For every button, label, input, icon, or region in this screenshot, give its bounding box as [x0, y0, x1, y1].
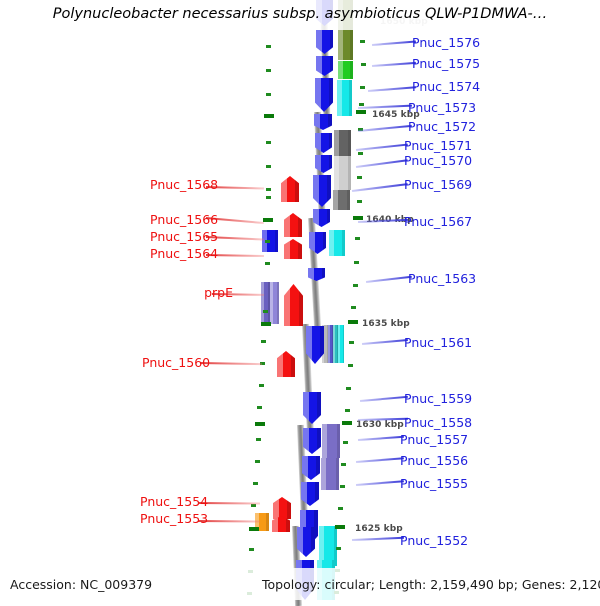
gene-label-forward[interactable]: Pnuc_1559 — [404, 391, 472, 406]
gene-arrow-forward-shadow — [330, 30, 333, 54]
gene-label-forward[interactable]: Pnuc_1572 — [408, 119, 476, 134]
gene-arrow-forward-shadow — [328, 114, 332, 130]
gene-arrow-forward[interactable] — [313, 209, 330, 227]
cog-block — [261, 282, 270, 324]
gene-label-forward[interactable]: Pnuc_1571 — [404, 138, 472, 153]
tick-major — [342, 421, 352, 425]
tick-major — [261, 322, 271, 326]
gene-arrow-reverse-highlight — [273, 497, 279, 519]
gene-label-forward[interactable]: Pnuc_1563 — [408, 271, 476, 286]
tick-major — [335, 525, 345, 529]
tick-minor — [345, 409, 350, 412]
tick-minor — [338, 507, 343, 510]
gene-arrow-reverse-shadow — [298, 213, 302, 237]
scale-caption: 1625 kbp — [355, 524, 403, 534]
gene-arrow-reverse[interactable] — [284, 284, 303, 326]
cog-block — [338, 61, 353, 79]
organism-title: Polynucleobacter necessarius subsp. asym… — [0, 6, 600, 22]
cog-block-highlight — [333, 190, 338, 210]
tick-minor — [266, 165, 271, 168]
leader-line — [352, 537, 404, 541]
cog-block — [321, 458, 339, 490]
gene-arrow-forward[interactable] — [316, 30, 333, 54]
gene-arrow-forward[interactable] — [316, 56, 333, 76]
gene-label-reverse[interactable]: Pnuc_1554 — [140, 494, 198, 509]
tick-minor — [253, 482, 258, 485]
gene-label-reverse[interactable]: Pnuc_1568 — [150, 177, 208, 192]
cog-block-shadow — [266, 513, 269, 531]
tick-major — [348, 320, 358, 324]
cog-block — [333, 190, 350, 210]
gene-arrow-forward-shadow — [316, 456, 320, 480]
tick-minor — [360, 40, 365, 43]
tick-minor — [341, 463, 346, 466]
cog-block-shadow — [337, 424, 340, 458]
tick-minor — [358, 152, 363, 155]
gene-arrow-forward[interactable] — [313, 175, 331, 207]
tick-minor — [255, 460, 260, 463]
leader-line — [372, 41, 416, 46]
cog-block-shadow — [336, 458, 339, 490]
cog-block-highlight — [270, 282, 273, 324]
leader-line — [358, 436, 404, 441]
cog-block — [338, 325, 344, 363]
tick-minor — [357, 176, 362, 179]
gene-label-reverse[interactable]: Pnuc_1565 — [150, 229, 208, 244]
gene-label-forward[interactable]: Pnuc_1575 — [412, 56, 480, 71]
genome-summary-label: Topology: circular; Length: 2,159,490 bp… — [262, 577, 600, 592]
tick-minor — [355, 237, 360, 240]
cog-block — [338, 32, 353, 60]
leader-line — [358, 125, 412, 132]
gene-arrow-forward-highlight — [315, 78, 321, 112]
gene-arrow-forward-highlight — [313, 175, 319, 207]
tick-minor — [360, 86, 365, 89]
tick-minor — [351, 306, 356, 309]
tick-minor — [265, 262, 270, 265]
gene-label-forward[interactable]: Pnuc_1570 — [404, 153, 472, 168]
genome-map-viewport[interactable]: 1650 kbp1645 kbp1640 kbp1635 kbp1630 kbp… — [0, 0, 600, 600]
gene-label-forward[interactable]: Pnuc_1558 — [404, 415, 472, 430]
gene-arrow-forward-shadow — [330, 56, 333, 76]
tick-minor — [346, 387, 351, 390]
gene-label-forward[interactable]: Pnuc_1561 — [404, 335, 472, 350]
cog-block-highlight — [338, 32, 343, 60]
cog-block-highlight — [322, 424, 327, 458]
gene-arrow-reverse-highlight — [284, 239, 290, 259]
tick-minor — [259, 384, 264, 387]
gene-label-reverse[interactable]: Pnuc_1566 — [150, 212, 208, 227]
tick-minor — [249, 548, 254, 551]
tick-minor — [266, 196, 271, 199]
cog-block-highlight — [329, 230, 334, 256]
tick-minor — [349, 341, 354, 344]
tick-major — [255, 422, 265, 426]
gene-arrow-forward[interactable] — [303, 428, 321, 454]
cog-block-highlight — [338, 61, 343, 79]
tick-minor — [263, 310, 268, 313]
gene-arrow-forward-highlight — [316, 30, 322, 54]
leader-line — [366, 276, 412, 283]
gene-label-forward[interactable]: Pnuc_1569 — [404, 177, 472, 192]
tick-major — [264, 114, 274, 118]
cog-block-shadow — [275, 230, 278, 252]
gene-arrow-forward-shadow — [315, 482, 319, 506]
gene-label-reverse[interactable]: Pnuc_1553 — [140, 511, 198, 526]
gene-label-forward[interactable]: Pnuc_1557 — [400, 432, 468, 447]
cog-block-shadow — [350, 61, 353, 79]
gene-label-forward[interactable]: Pnuc_1556 — [400, 453, 468, 468]
tick-minor — [266, 188, 271, 191]
gene-label-reverse[interactable]: prpE — [175, 285, 233, 300]
tick-minor — [256, 438, 261, 441]
tick-major — [356, 110, 366, 114]
tick-major — [263, 218, 273, 222]
gene-label-forward[interactable]: Pnuc_1555 — [400, 476, 468, 491]
gene-arrow-forward-shadow — [327, 175, 331, 207]
accession-label: Accession: NC_009379 — [10, 577, 152, 592]
gene-arrow-forward-shadow — [329, 133, 332, 153]
gene-arrow-forward[interactable] — [315, 78, 333, 112]
gene-label-forward[interactable]: Pnuc_1576 — [412, 35, 480, 50]
gene-label-reverse[interactable]: Pnuc_1564 — [150, 246, 208, 261]
tick-minor — [354, 261, 359, 264]
scale-caption: 1635 kbp — [362, 319, 410, 329]
tick-minor — [353, 284, 358, 287]
tick-minor — [359, 103, 364, 106]
cog-block-highlight — [333, 325, 335, 363]
gene-arrow-forward-shadow — [327, 209, 330, 227]
tick-minor — [265, 240, 270, 243]
gene-arrow-reverse-shadow — [287, 497, 291, 519]
cog-block — [322, 424, 340, 458]
cog-block-highlight — [261, 282, 264, 324]
cog-block-shadow — [349, 80, 352, 116]
gene-arrow-forward-shadow — [311, 527, 315, 557]
cog-block-highlight — [337, 80, 342, 116]
gene-arrow-reverse-highlight — [284, 213, 290, 237]
leader-line — [368, 86, 416, 91]
gene-arrow-reverse-highlight — [284, 284, 290, 326]
tick-minor — [266, 69, 271, 72]
cog-block — [270, 282, 279, 324]
tick-minor — [357, 200, 362, 203]
gene-label-forward[interactable]: Pnuc_1567 — [404, 214, 472, 229]
tick-minor — [343, 441, 348, 444]
tick-minor — [257, 406, 262, 409]
leader-line — [356, 144, 408, 151]
gene-arrow-forward-shadow — [317, 428, 321, 454]
gene-arrow-reverse[interactable] — [273, 497, 291, 519]
gene-arrow-reverse[interactable] — [281, 176, 299, 202]
leader-line — [356, 480, 404, 485]
gene-arrow-reverse-highlight — [281, 176, 287, 202]
tick-minor — [266, 141, 271, 144]
gene-arrow-forward-shadow — [323, 232, 326, 254]
tick-major — [249, 527, 259, 531]
cog-block — [334, 130, 351, 156]
gene-arrow-reverse-shadow — [299, 284, 303, 326]
cog-block-shadow — [350, 32, 353, 60]
gene-arrow-forward-shadow — [329, 155, 332, 173]
tick-minor — [361, 63, 366, 66]
leader-line — [372, 62, 416, 67]
scale-caption: 1630 kbp — [356, 420, 404, 430]
leader-line — [358, 105, 412, 109]
cog-block-shadow — [347, 190, 350, 210]
cog-block-highlight — [334, 130, 339, 156]
gene-arrow-reverse-highlight — [277, 351, 283, 377]
tick-major — [353, 216, 363, 220]
cog-block — [337, 80, 352, 116]
cog-block-highlight — [338, 325, 340, 363]
tick-minor — [251, 504, 256, 507]
cog-block-shadow — [343, 325, 344, 363]
tick-minor — [340, 485, 345, 488]
gene-arrow-forward-shadow — [317, 392, 321, 424]
gene-label-forward[interactable]: Pnuc_1574 — [412, 79, 480, 94]
tick-minor — [336, 547, 341, 550]
cog-block-shadow — [348, 130, 351, 156]
gene-arrow-forward-shadow — [322, 268, 325, 281]
cog-block — [329, 230, 345, 256]
tick-minor — [266, 93, 271, 96]
cog-block-highlight — [321, 458, 326, 490]
cog-block — [334, 156, 351, 190]
gene-arrow-reverse[interactable] — [277, 351, 295, 377]
gene-arrow-reverse-shadow — [298, 239, 302, 259]
gene-arrow-reverse[interactable] — [284, 239, 302, 259]
tick-minor — [348, 364, 353, 367]
cog-block-highlight — [334, 156, 339, 190]
gene-arrow-reverse-shadow — [291, 351, 295, 377]
leader-line — [360, 396, 408, 402]
leader-line — [352, 183, 408, 191]
cog-block-shadow — [342, 230, 345, 256]
cog-block-shadow — [277, 282, 279, 324]
tick-minor — [266, 45, 271, 48]
tick-minor — [261, 340, 266, 343]
gene-arrow-forward-highlight — [316, 56, 322, 76]
gene-label-reverse[interactable]: Pnuc_1560 — [142, 355, 200, 370]
leader-line — [356, 159, 408, 167]
gene-arrow-reverse[interactable] — [284, 213, 302, 237]
leader-line — [356, 457, 404, 462]
leader-line — [362, 339, 408, 345]
gene-label-forward[interactable]: Pnuc_1573 — [408, 100, 476, 115]
cog-block-highlight — [328, 325, 330, 363]
gene-arrow-reverse-shadow — [295, 176, 299, 202]
gene-label-forward[interactable]: Pnuc_1552 — [400, 533, 468, 548]
cog-block-shadow — [348, 156, 351, 190]
